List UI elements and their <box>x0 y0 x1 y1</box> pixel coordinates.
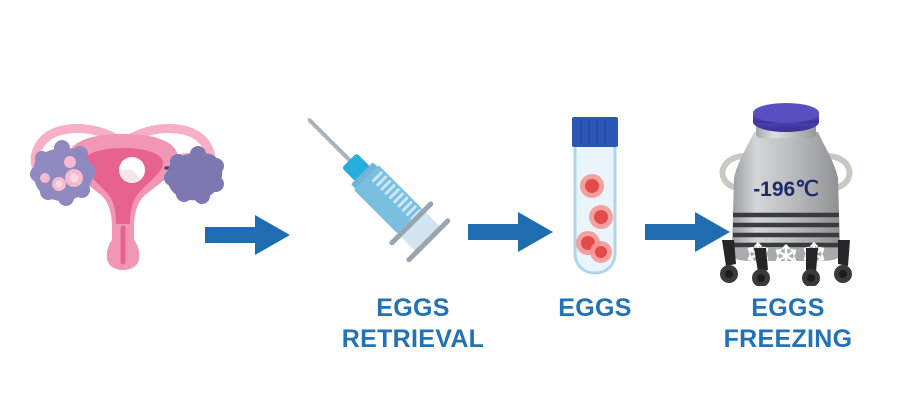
tank-temperature-label: -196℃ <box>753 178 819 201</box>
arrow-syringe-to-vial <box>468 211 553 253</box>
stage-eggs-vial <box>563 113 627 278</box>
syringe-icon <box>280 100 460 265</box>
specimen-vial-icon <box>563 113 627 278</box>
arrow-ovaries-to-syringe <box>205 214 290 256</box>
right-arrow-icon <box>468 211 553 253</box>
label-eggs-freezing: EGGS FREEZING <box>688 293 888 354</box>
tank-lid-top <box>753 103 819 123</box>
vial-cap-icon <box>572 117 618 147</box>
follicle-icon <box>64 156 76 168</box>
follicle-icon <box>40 173 50 183</box>
cryogenic-tank-icon: -196℃ <box>712 98 860 286</box>
syringe-needle-icon <box>307 118 352 163</box>
stage-ovaries <box>18 112 228 272</box>
label-eggs: EGGS <box>525 293 665 324</box>
label-eggs-retrieval: EGGS RETRIEVAL <box>318 293 508 354</box>
stage-eggs-freezing: -196℃ <box>712 98 860 286</box>
right-arrow-icon <box>205 214 290 256</box>
infographic-canvas: EGGS RETRIEVAL <box>0 0 900 400</box>
stage-eggs-retrieval <box>280 100 460 265</box>
uterus-ovaries-icon <box>18 112 228 272</box>
